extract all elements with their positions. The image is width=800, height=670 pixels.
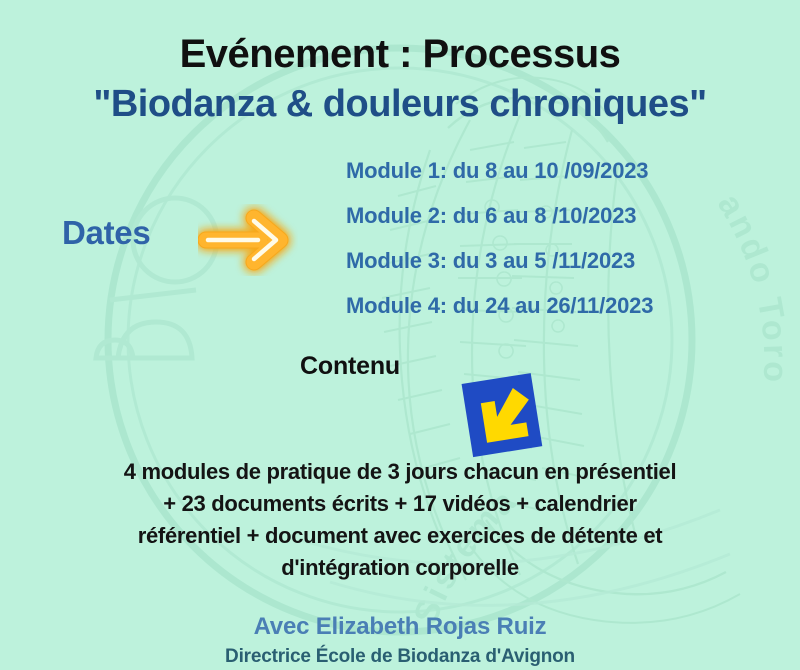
module-date-list: Module 1: du 8 au 10 /09/2023 Module 2: … [346,160,766,317]
content-line: d'intégration corporelle [40,552,760,584]
presenter-role: Directrice École de Biodanza d'Avignon [0,645,800,670]
page-subtitle: "Biodanza & douleurs chroniques" [0,83,800,126]
page-title: Evénement : Processus [0,32,800,77]
footer-block: Avec Elizabeth Rojas Ruiz Directrice Éco… [0,612,800,670]
event-poster: ando Toro Sistema [0,0,800,670]
module-date-item: Module 4: du 24 au 26/11/2023 [346,295,766,317]
dates-label: Dates [62,214,150,252]
content-line: référentiel + document avec exercices de… [40,520,760,552]
title-block: Evénement : Processus "Biodanza & douleu… [0,32,800,125]
module-date-item: Module 3: du 3 au 5 /11/2023 [346,250,766,272]
content-heading: Contenu [0,352,800,381]
presenter-name: Avec Elizabeth Rojas Ruiz [0,612,800,642]
content-description: 4 modules de pratique de 3 jours chacun … [40,456,760,584]
content-line: 4 modules de pratique de 3 jours chacun … [40,456,760,488]
module-date-item: Module 1: du 8 au 10 /09/2023 [346,160,766,182]
content-line: + 23 documents écrits + 17 vidéos + cale… [40,488,760,520]
arrow-right-glow-icon [198,204,298,276]
arrow-down-left-icon [455,368,550,463]
module-date-item: Module 2: du 6 au 8 /10/2023 [346,205,766,227]
